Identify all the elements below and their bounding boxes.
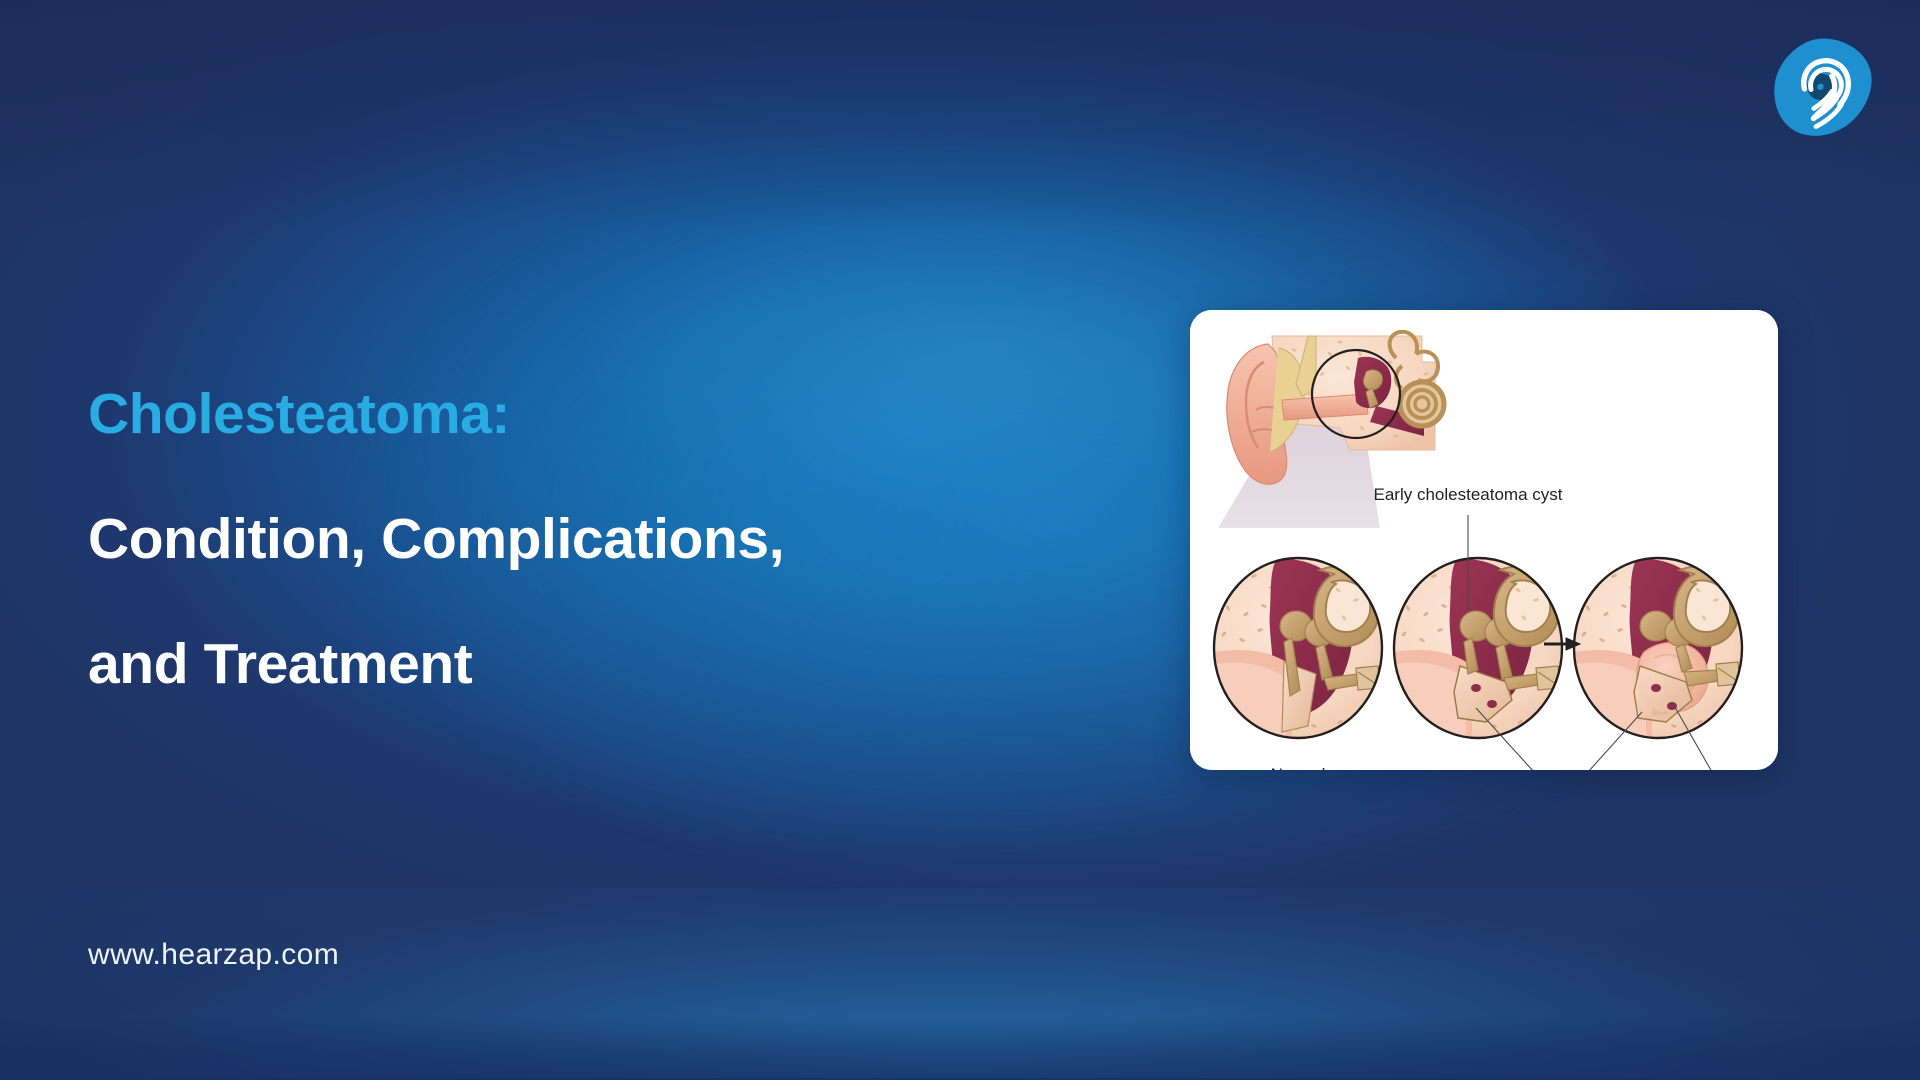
headline-block: Cholesteatoma: Condition, Complications,… bbox=[88, 352, 1108, 727]
label-early-cyst: Early cholesteatoma cyst bbox=[1374, 485, 1563, 504]
cholesteatoma-diagram: Normal bbox=[1190, 310, 1778, 770]
headline-line-1: Cholesteatoma: bbox=[88, 352, 1108, 477]
headline-line-3: and Treatment bbox=[88, 602, 1108, 727]
ear-hearing-logo-icon bbox=[1768, 32, 1878, 142]
headline-line-2: Condition, Complications, bbox=[88, 477, 1108, 602]
website-url[interactable]: www.hearzap.com bbox=[88, 938, 339, 972]
banner-canvas: Cholesteatoma: Condition, Complications,… bbox=[0, 0, 1920, 1080]
hearzap-logo[interactable] bbox=[1768, 32, 1878, 142]
label-normal: Normal bbox=[1271, 765, 1326, 770]
illustration-card: Normal bbox=[1190, 310, 1778, 770]
